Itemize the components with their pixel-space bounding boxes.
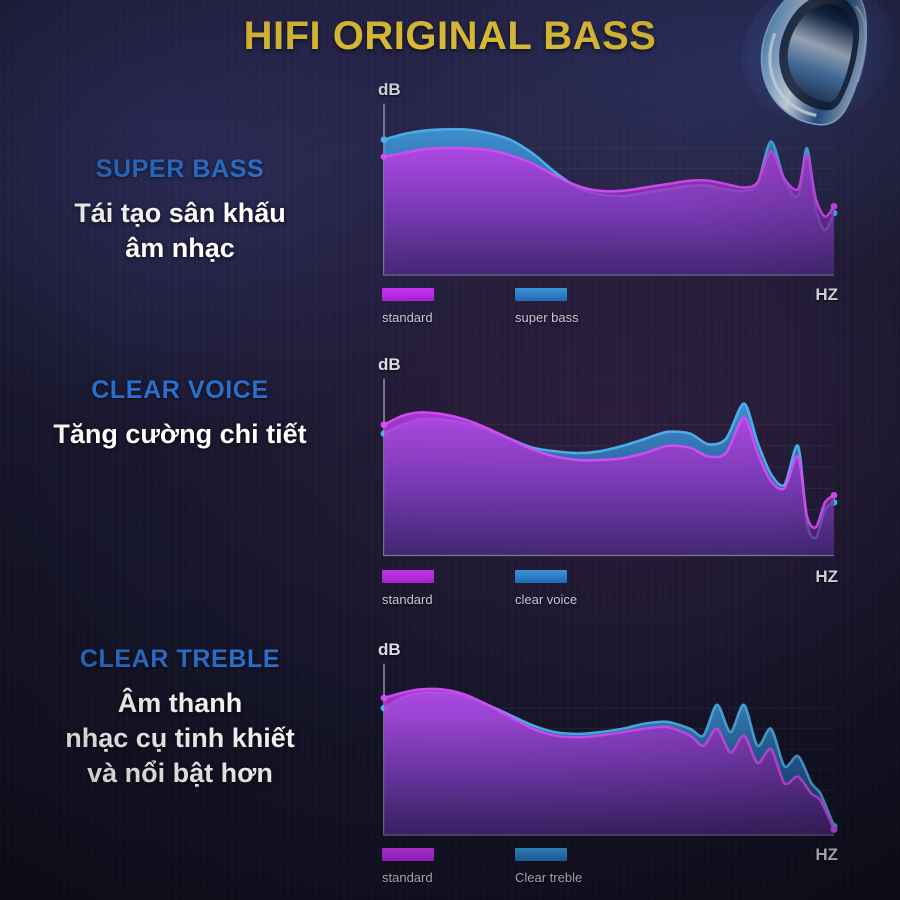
feature-heading: SUPER BASS [0, 155, 360, 184]
legend-label: clear voice [515, 592, 610, 607]
chart-plot-area [370, 373, 840, 569]
feature-body: Tái tạo sân khấu âm nhạc [0, 196, 360, 266]
feature-body: Tăng cường chi tiết [0, 417, 360, 452]
legend-item: Clear treble [515, 848, 610, 885]
feature-block-clear-treble: CLEAR TREBLE Âm thanh nhạc cụ tinh khiết… [0, 645, 360, 791]
chart-plot-area [370, 658, 840, 848]
legend-swatch-alt [515, 848, 567, 861]
feature-body: Âm thanh nhạc cụ tinh khiết và nổi bật h… [0, 686, 360, 791]
chart-legend: standard Clear treble [382, 848, 610, 885]
chart-clear-treble: dB HZ standard Clear treble [370, 640, 840, 900]
x-axis-label: HZ [815, 567, 838, 587]
chart-clear-voice: dB HZ standard clear voice [370, 355, 840, 623]
legend-label: Clear treble [515, 870, 610, 885]
chart-legend: standard super bass [382, 288, 610, 325]
legend-label: super bass [515, 310, 610, 325]
x-axis-label: HZ [815, 285, 838, 305]
chart-plot-area [370, 98, 840, 288]
legend-item: standard [382, 288, 477, 325]
feature-block-clear-voice: CLEAR VOICE Tăng cường chi tiết [0, 376, 360, 452]
legend-swatch-standard [382, 570, 434, 583]
x-axis-label: HZ [815, 845, 838, 865]
legend-swatch-standard [382, 848, 434, 861]
legend-label: standard [382, 592, 477, 607]
y-axis-label: dB [378, 80, 401, 100]
legend-item: standard [382, 570, 477, 607]
legend-item: super bass [515, 288, 610, 325]
legend-item: clear voice [515, 570, 610, 607]
legend-label: standard [382, 310, 477, 325]
legend-swatch-standard [382, 288, 434, 301]
legend-item: standard [382, 848, 477, 885]
chart-legend: standard clear voice [382, 570, 610, 607]
feature-heading: CLEAR VOICE [0, 376, 360, 405]
y-axis-label: dB [378, 640, 401, 660]
promo-banner: HIFI ORIGINAL BASS SUPER BASS Tái tạo sâ… [0, 0, 900, 900]
legend-swatch-alt [515, 570, 567, 583]
legend-label: standard [382, 870, 477, 885]
legend-swatch-alt [515, 288, 567, 301]
chart-super-bass: dB HZ standard super bass [370, 80, 840, 335]
feature-block-super-bass: SUPER BASS Tái tạo sân khấu âm nhạc [0, 155, 360, 266]
y-axis-label: dB [378, 355, 401, 375]
page-title: HIFI ORIGINAL BASS [0, 14, 900, 59]
feature-heading: CLEAR TREBLE [0, 645, 360, 674]
